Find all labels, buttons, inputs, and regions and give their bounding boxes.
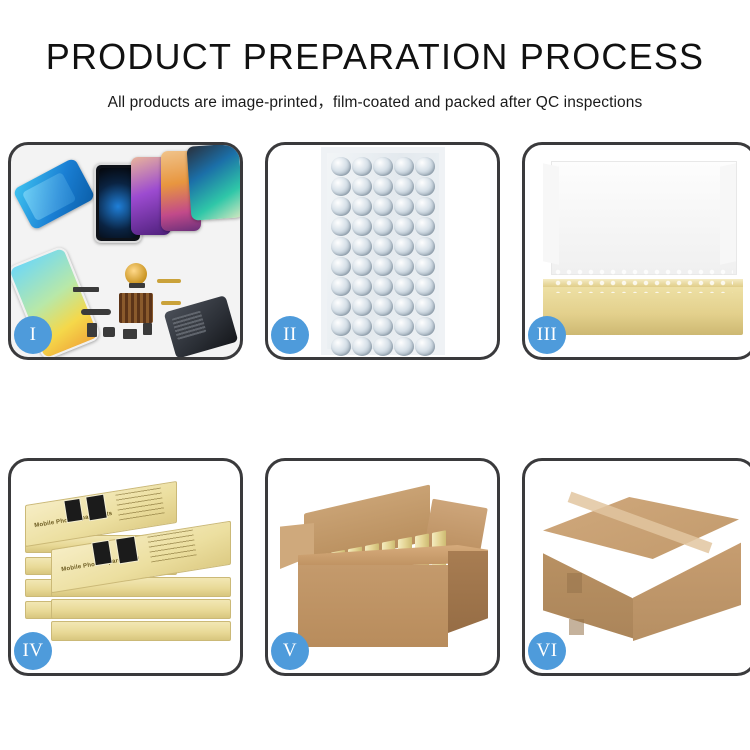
connector-part [73,287,99,292]
bubble [415,197,435,216]
phone-screen-blue [12,157,95,230]
flex-cable-part [157,279,181,283]
bubble [331,257,351,276]
bubble [331,197,351,216]
bubble [352,317,372,336]
bubble [415,297,435,316]
page-subtitle: All products are image-printed，film-coat… [0,78,750,112]
box-screen-image [85,494,108,522]
kraft-box-tray [543,283,743,335]
bubble-wrap-sheet [327,153,439,349]
retail-box [51,599,231,619]
box-screen-image [63,498,83,523]
coil-part [125,263,147,285]
carton-tab [569,619,584,635]
bubble [352,157,372,176]
step-panel-2: II [265,142,500,360]
small-part [87,323,97,337]
box-screen-image [91,540,113,567]
bubble [373,197,393,216]
bubble [394,297,414,316]
bubble [373,237,393,256]
spare-parts-cluster [73,265,240,357]
bubble [352,217,372,236]
bubble [352,337,372,356]
box-screen-image [115,536,139,565]
page-title: PRODUCT PREPARATION PROCESS [0,0,750,78]
bubble [394,197,414,216]
box-lid [551,161,737,275]
bubble [352,237,372,256]
carton-side-panel [448,551,488,633]
carton-front-panel [298,565,448,647]
small-part [129,283,145,288]
bubble [415,257,435,276]
bubble [331,337,351,356]
flex-cable-part [161,301,181,305]
bubble [415,317,435,336]
bubble [331,237,351,256]
bubble [415,277,435,296]
bubble [373,277,393,296]
bubble [415,177,435,196]
box-lid-flap-left [543,163,559,264]
retail-box-stack: Mobile Phone Spare Parts Mobile Phone Sp… [21,479,233,661]
bubble [394,317,414,336]
bubble [373,217,393,236]
header: PRODUCT PREPARATION PROCESS All products… [0,0,750,112]
bubble [415,217,435,236]
bubble [415,157,435,176]
bubble [394,157,414,176]
bubble [373,297,393,316]
bubble [331,317,351,336]
small-part [103,327,115,337]
bubble-grid [331,157,435,345]
bubble [331,157,351,176]
bubble [331,217,351,236]
step-badge-5: V [271,632,309,670]
step-panel-5: V [265,458,500,676]
bubble [394,277,414,296]
step-badge-3: III [528,316,566,354]
bubble-wrapped-contents [553,267,733,293]
step-panel-3: III [522,142,750,360]
bubble [373,157,393,176]
bubble [352,297,372,316]
step-badge-6: VI [528,632,566,670]
box-lid-flap-right [720,163,736,264]
small-part [143,323,152,335]
bubble [415,337,435,356]
bubble [394,257,414,276]
bubble [331,177,351,196]
small-part [81,309,111,315]
bubble [394,237,414,256]
bubble [331,277,351,296]
bubble [415,237,435,256]
bubble [394,177,414,196]
step-panel-1: I [8,142,243,360]
bubble [331,297,351,316]
bubble [373,177,393,196]
bubble [373,337,393,356]
small-part [123,329,137,339]
step-badge-1: I [14,316,52,354]
steps-grid: I II III [8,142,742,680]
bubble [352,257,372,276]
step-badge-4: IV [14,632,52,670]
bubble [394,217,414,236]
step-panel-4: Mobile Phone Spare Parts Mobile Phone Sp… [8,458,243,676]
phone-screen-green [186,145,240,221]
bubble [352,197,372,216]
step-panel-6: VI [522,458,750,676]
bubble [394,337,414,356]
chip-part [119,293,153,323]
bubble [352,277,372,296]
step-badge-2: II [271,316,309,354]
bubble [373,317,393,336]
retail-box [51,621,231,641]
bubble [352,177,372,196]
product-preparation-infographic: PRODUCT PREPARATION PROCESS All products… [0,0,750,750]
carton-tab [567,573,582,593]
bubble [373,257,393,276]
